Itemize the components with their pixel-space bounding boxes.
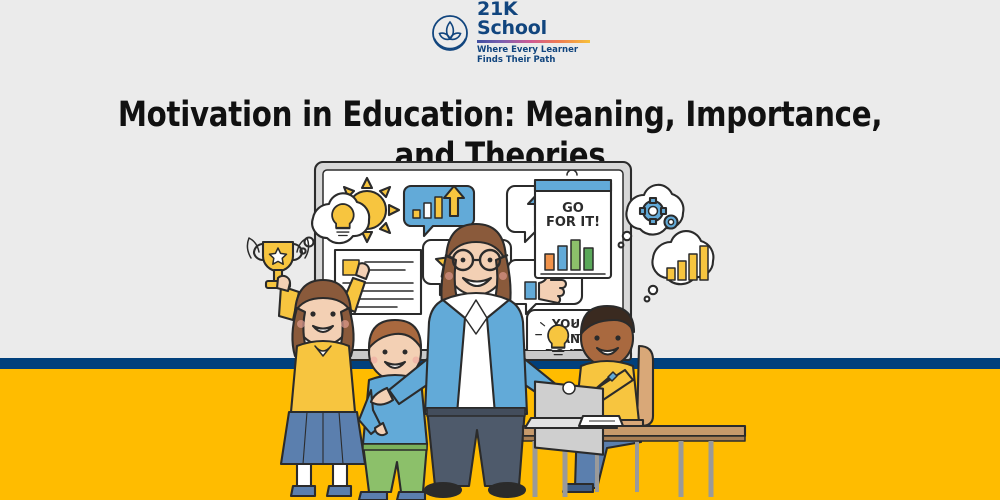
classroom-motivation-illustration: .ol{stroke:#2b2b2b;stroke-width:2.1;stro… bbox=[235, 150, 765, 500]
brand-tagline: Where Every Learner Finds Their Path bbox=[477, 45, 590, 66]
brand-gradient-rule bbox=[477, 40, 590, 43]
bar-chart-thought-bubble-icon bbox=[645, 231, 714, 301]
brand-logo-text: 21K School Where Every Learner Finds The… bbox=[477, 0, 590, 65]
brand-logo[interactable]: 21K School Where Every Learner Finds The… bbox=[430, 10, 590, 56]
poster-text-line2: FOR IT! bbox=[546, 215, 600, 230]
clipboard-chart-icon: GO FOR IT! bbox=[535, 170, 611, 278]
page-title-line1: Motivation in Education: Meaning, Import… bbox=[82, 95, 919, 136]
brand-tagline-line2: Finds Their Path bbox=[477, 55, 590, 65]
lotus-circle-icon bbox=[430, 13, 470, 53]
notebook-icon bbox=[579, 416, 623, 426]
brand-name: 21K School bbox=[477, 0, 590, 38]
page-canvas: 21K School Where Every Learner Finds The… bbox=[0, 0, 1000, 500]
brand-tagline-line1: Where Every Learner bbox=[477, 45, 590, 55]
poster-text-line1: GO bbox=[562, 201, 584, 216]
